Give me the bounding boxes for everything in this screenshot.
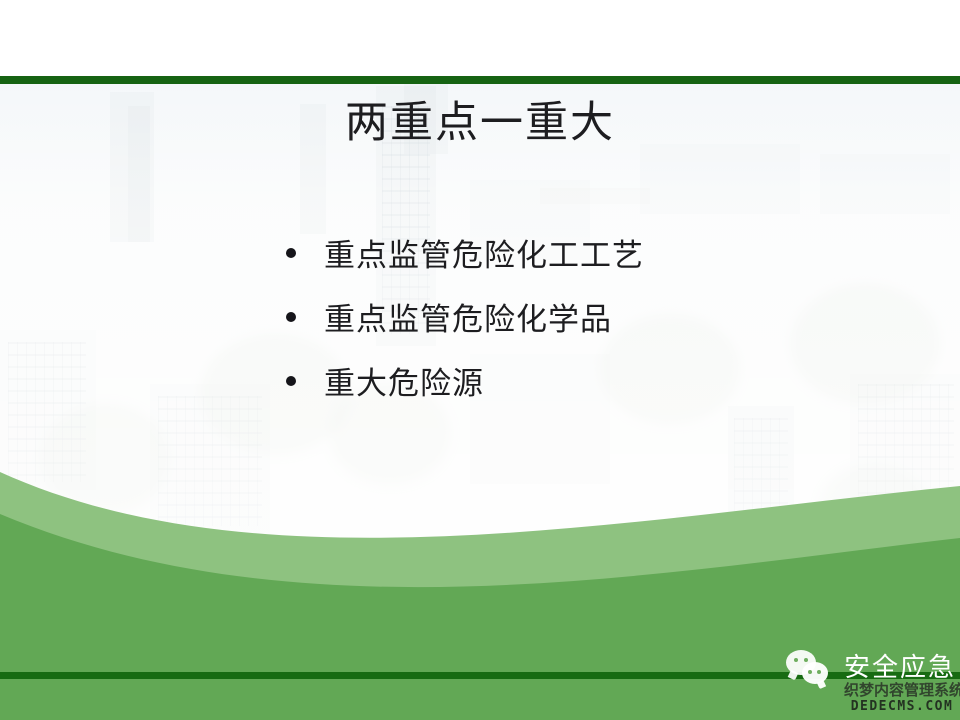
watermark-cn-text: 织梦内容管理系统 [844, 682, 960, 699]
wechat-bubble-front-eye [817, 670, 821, 674]
wechat-bubble-back-eye [794, 658, 798, 662]
list-item: 重点监管危险化学品 [286, 300, 906, 364]
list-item: 重点监管危险化工工艺 [286, 236, 906, 300]
wechat-icon [786, 650, 834, 686]
list-item-label: 重点监管危险化学品 [324, 300, 612, 340]
list-item-label: 重点监管危险化工工艺 [324, 236, 644, 276]
list-item: 重大危险源 [286, 364, 906, 428]
top-divider-rule [0, 76, 960, 84]
bullet-dot-icon [286, 312, 296, 322]
presentation-slide: 两重点一重大 重点监管危险化工工艺 重点监管危险化学品 重大危险源 安全应急 织 [0, 0, 960, 720]
wechat-account-name: 安全应急 [844, 653, 956, 683]
watermark-en-text: DEDECMS.COM [844, 699, 960, 715]
wechat-bubble-front-eye [808, 670, 812, 674]
page-title: 两重点一重大 [0, 96, 960, 150]
bullet-list: 重点监管危险化工工艺 重点监管危险化学品 重大危险源 [286, 236, 906, 428]
wechat-bubble-back-eye [804, 658, 808, 662]
wechat-bubble-front [802, 662, 828, 684]
bullet-dot-icon [286, 376, 296, 386]
bullet-dot-icon [286, 248, 296, 258]
list-item-label: 重大危险源 [324, 364, 484, 404]
site-watermark: 织梦内容管理系统 DEDECMS.COM [844, 682, 960, 715]
